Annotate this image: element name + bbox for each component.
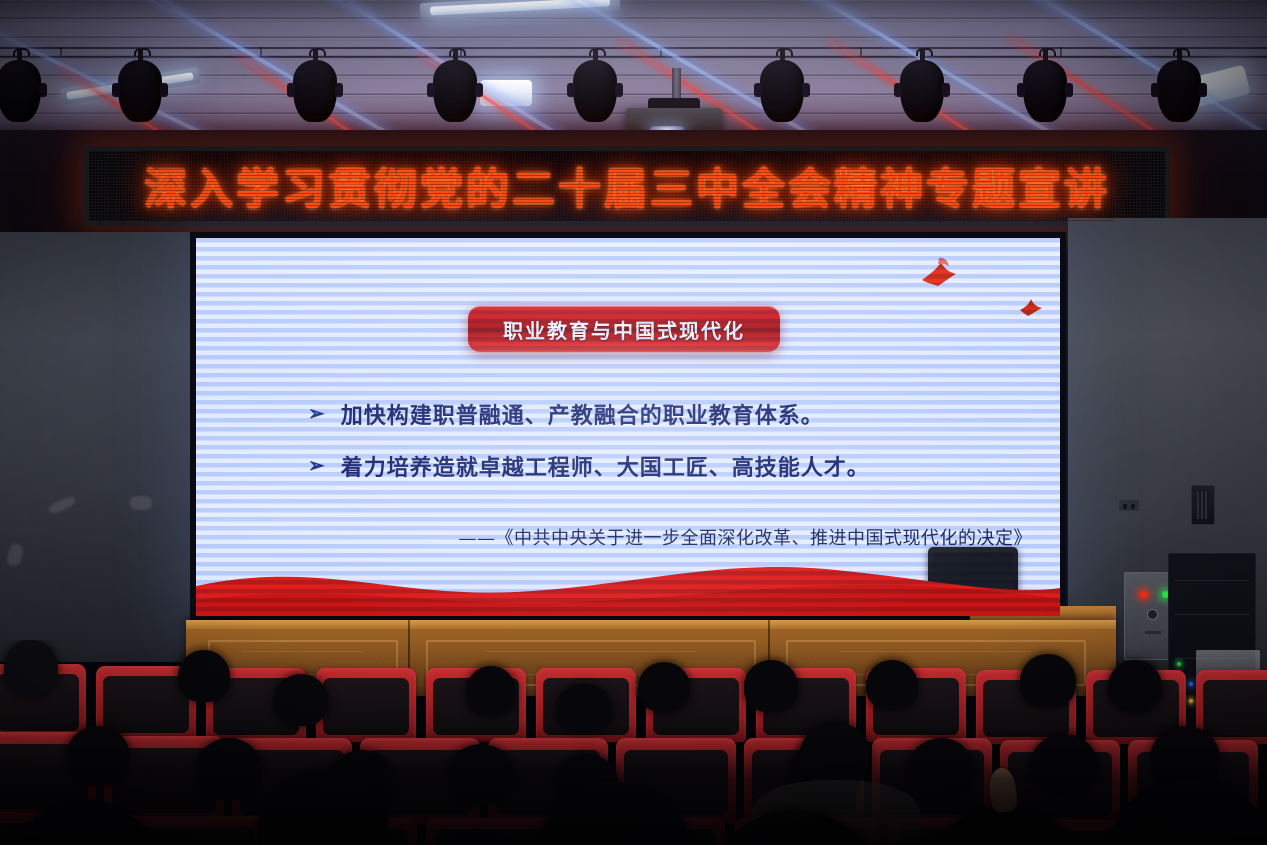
audience-head — [744, 660, 798, 712]
control-panel-knob[interactable] — [1147, 609, 1158, 620]
flying-bird-large-icon — [918, 254, 962, 290]
audience-head — [800, 722, 870, 788]
audience-head — [556, 684, 612, 732]
control-panel-slot — [1145, 631, 1161, 634]
projection-screen: 职业教育与中国式现代化 ➢ 加快构建职普融通、产教融合的职业教育体系。 ➢ 着力… — [196, 238, 1060, 616]
projection-screen-frame: 职业教育与中国式现代化 ➢ 加快构建职普融通、产教融合的职业教育体系。 ➢ 着力… — [190, 232, 1066, 622]
podium-top-edge — [186, 620, 1116, 629]
audience-head — [866, 660, 918, 710]
slide-citation: ——《中共中央关于进一步全面深化改革、推进中国式现代化的决定》 — [459, 524, 1033, 550]
auditorium-seat[interactable] — [316, 668, 416, 742]
audience-head — [66, 726, 130, 786]
audience-head — [448, 744, 514, 806]
audience-head — [196, 738, 262, 800]
audience-head — [908, 738, 974, 800]
bullet-arrow-icon: ➢ — [308, 404, 325, 424]
led-banner-text: 深入学习贯彻党的二十届三中全会精神专题宣讲 — [144, 155, 1110, 217]
ceiling — [0, 0, 1267, 132]
audience-head — [1020, 654, 1076, 708]
wall-mounted-device — [1191, 485, 1215, 525]
seat-cushion — [103, 676, 189, 732]
seat-cushion — [1203, 680, 1267, 736]
ceiling-shading — [0, 0, 1267, 132]
lecture-hall-scene: 深入学习贯彻党的二十届三中全会精神专题宣讲 — [0, 0, 1267, 845]
audience-head — [1108, 660, 1162, 712]
left-wall — [0, 232, 196, 662]
led-banner-display: 深入学习贯彻党的二十届三中全会精神专题宣讲 — [84, 146, 1170, 226]
power-outlet — [1118, 499, 1140, 512]
rack-shelf — [1175, 580, 1249, 581]
audience-head — [4, 640, 58, 696]
audience-area — [0, 640, 1267, 845]
audience-head — [466, 666, 516, 716]
slide-bullet-1: ➢ 加快构建职普融通、产教融合的职业教育体系。 — [308, 398, 824, 430]
flying-bird-small-icon — [1018, 296, 1044, 318]
rack-shelf — [1175, 614, 1249, 615]
slide-title-banner: 职业教育与中国式现代化 — [468, 306, 780, 352]
power-indicator-red-icon — [1140, 591, 1147, 598]
audience-head — [178, 650, 230, 702]
left-wall-shading — [0, 232, 196, 662]
slide-bullet-2: ➢ 着力培养造就卓越工程师、大国工匠、高技能人才。 — [308, 450, 870, 482]
audience-head — [638, 662, 690, 712]
audience-head — [1030, 734, 1098, 796]
seat-cushion — [323, 678, 409, 734]
slide-bullet-1-text: 加快构建职普融通、产教融合的职业教育体系。 — [341, 398, 824, 430]
bullet-arrow-icon: ➢ — [308, 456, 325, 476]
audience-head — [274, 674, 328, 726]
slide-decorative-wave — [196, 552, 1060, 616]
slide-title-text: 职业教育与中国式现代化 — [503, 315, 745, 344]
wall-scuff — [130, 496, 152, 510]
slide-bullet-2-text: 着力培养造就卓越工程师、大国工匠、高技能人才。 — [341, 450, 870, 482]
